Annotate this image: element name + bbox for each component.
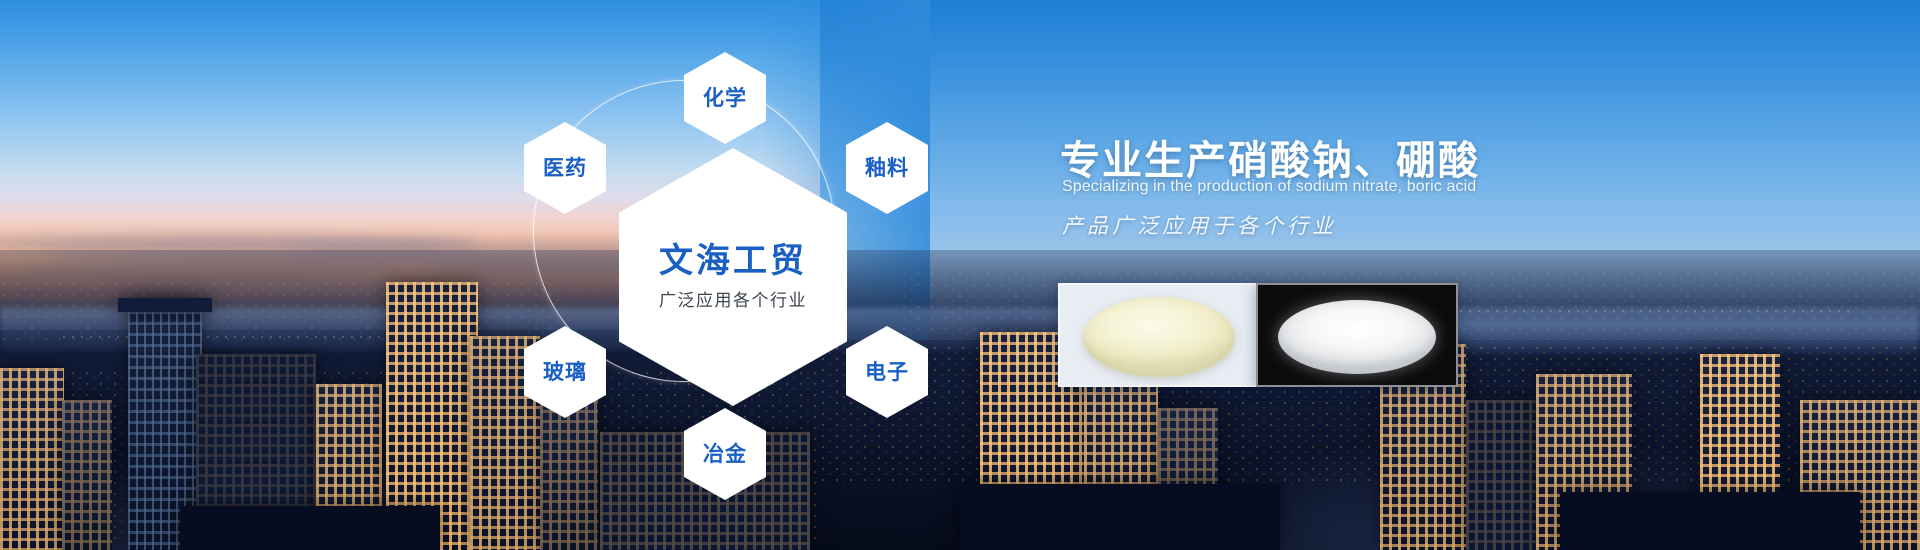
rooftop-foreground (960, 484, 1280, 550)
hex-metallurgy-label: 冶金 (703, 444, 747, 465)
product-photo-boric-acid[interactable] (1256, 283, 1458, 387)
bridge-lights (60, 336, 390, 338)
subheadline-english: Specializing in the production of sodium… (1062, 178, 1476, 196)
brand-name: 文海工贸 (659, 243, 807, 280)
hex-electronics-label: 电子 (865, 362, 909, 383)
powder-pile-cream (1083, 297, 1235, 377)
hex-glass-label: 玻璃 (543, 362, 587, 383)
powder-pile-white (1278, 300, 1436, 374)
rooftop-foreground (180, 506, 440, 550)
building-block (62, 400, 112, 550)
product-photo-sodium-nitrate[interactable] (1058, 283, 1260, 387)
subheadline-chinese: 产品广泛应用于各个行业 (1062, 210, 1337, 240)
cityscape-photo (0, 250, 1920, 550)
hex-medicine-label: 医药 (543, 158, 587, 179)
brand-tagline: 广泛应用各个行业 (659, 291, 807, 311)
hex-chemistry-label: 化学 (703, 88, 747, 109)
building-block (0, 368, 64, 550)
building-crown (118, 298, 212, 312)
rooftop-foreground (1560, 492, 1860, 550)
building-dark (1466, 400, 1536, 550)
bridge-lights (1430, 310, 1850, 312)
hex-glaze-label: 釉料 (865, 158, 909, 179)
promo-banner: 化学 釉料 电子 冶金 玻璃 医药 文海工贸 广泛应用各个行业 专业生产硝酸钠、… (0, 0, 1920, 550)
